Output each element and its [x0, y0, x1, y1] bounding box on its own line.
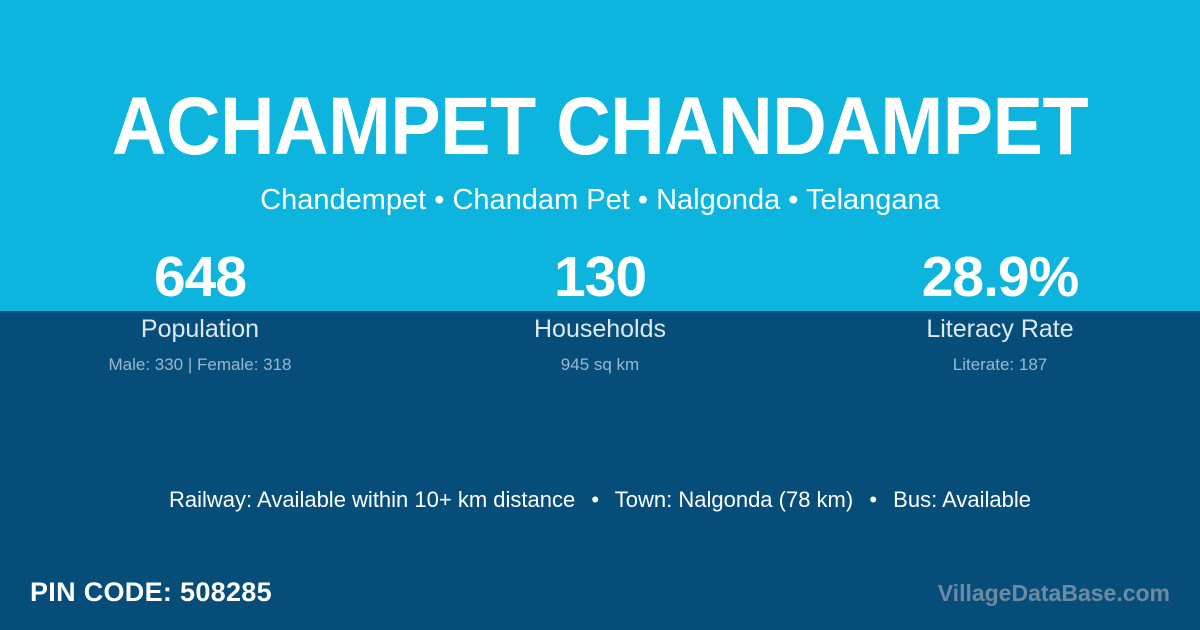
amenities-info-line: Railway: Available within 10+ km distanc…: [0, 484, 1200, 516]
page-title: ACHAMPET CHANDAMPET: [48, 82, 1152, 172]
stat-population-value: 648: [0, 245, 400, 309]
stat-literacy-rate: 28.9% Literacy Rate Literate: 187: [800, 245, 1200, 377]
stat-households: 130 Households 945 sq km: [400, 245, 800, 377]
page-subtitle: Chandempet • Chandam Pet • Nalgonda • Te…: [0, 182, 1200, 218]
stat-population-sub: Male: 330 | Female: 318: [0, 353, 400, 377]
info-separator-1: •: [581, 487, 609, 512]
stat-literacy-rate-label: Literacy Rate: [800, 313, 1200, 345]
pin-code: PIN CODE: 508285: [30, 575, 272, 609]
stat-literacy-rate-sub: Literate: 187: [800, 353, 1200, 377]
stat-literacy-rate-value: 28.9%: [800, 245, 1200, 309]
stat-households-label: Households: [400, 313, 800, 345]
site-watermark: VillageDataBase.com: [938, 578, 1170, 608]
info-railway: Railway: Available within 10+ km distanc…: [169, 487, 575, 512]
village-info-card: ACHAMPET CHANDAMPET Chandempet • Chandam…: [0, 0, 1200, 630]
info-bus: Bus: Available: [893, 487, 1031, 512]
stats-row: 648 Population Male: 330 | Female: 318 1…: [0, 245, 1200, 377]
stat-households-value: 130: [400, 245, 800, 309]
stat-population-label: Population: [0, 313, 400, 345]
info-separator-2: •: [859, 487, 887, 512]
stat-households-sub: 945 sq km: [400, 353, 800, 377]
info-town: Town: Nalgonda (78 km): [615, 487, 853, 512]
stat-population: 648 Population Male: 330 | Female: 318: [0, 245, 400, 377]
